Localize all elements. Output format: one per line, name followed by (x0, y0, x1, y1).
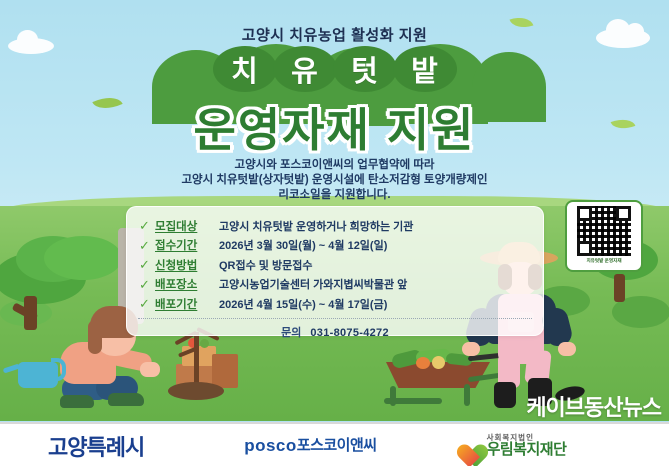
info-row-value: 2026년 3월 30일(월) ~ 4월 12일(일) (219, 237, 387, 253)
logo-goyang-city: 고양특례시 (48, 430, 144, 462)
info-row: ✓ 배포기간 2026년 4월 15일(수) ~ 4월 17일(금) (139, 294, 531, 314)
info-row-label: 배포기간 (155, 296, 219, 312)
info-row-value: 2026년 4월 15일(수) ~ 4월 17일(금) (219, 296, 387, 312)
info-row-label: 신청방법 (155, 257, 219, 273)
info-row-value: 고양시 치유텃밭 운영하거나 희망하는 기관 (219, 218, 413, 234)
logo-woorim-foundation: 사회복지법인 우림복지재단 (451, 433, 567, 459)
info-row-label: 배포장소 (155, 276, 219, 292)
poster-kicker: 고양시 치유농업 활성화 지원 (0, 24, 669, 45)
contact-label: 문의 (281, 327, 301, 339)
info-row-label: 모집대상 (155, 218, 219, 234)
title-pill-char: 텃 (333, 46, 397, 92)
description-line: 고양시 치유텃밭(상자텃밭) 운영시설에 탄소저감형 토양개량제인 (0, 173, 669, 188)
title-line2-right: 지원 (387, 104, 476, 156)
title-pill-char: 유 (273, 46, 337, 92)
check-icon: ✓ (139, 258, 155, 271)
info-card: ✓ 모집대상 고양시 치유텃밭 운영하거나 희망하는 기관 ✓ 접수기간 202… (126, 206, 544, 336)
qr-code-icon[interactable] (577, 206, 631, 256)
heart-icon (451, 433, 481, 459)
logo-posco-kr: 포스코이앤씨 (297, 438, 377, 454)
title-pill-char: 밭 (393, 46, 457, 92)
info-row-value: 고양시농업기술센터 가와지볍씨박물관 앞 (219, 276, 407, 292)
logo-posco: posco 포스코이앤씨 (244, 437, 376, 455)
check-icon: ✓ (139, 219, 155, 232)
qr-code-box[interactable]: 치유텃밭 운영자재 (565, 200, 643, 272)
qr-code-caption: 치유텃밭 운영자재 (586, 258, 621, 264)
info-row: ✓ 신청방법 QR접수 및 방문접수 (139, 255, 531, 275)
check-icon: ✓ (139, 239, 155, 252)
title-pill-char: 치 (213, 46, 277, 92)
watermark-text: 케이브동산뉴스 (526, 390, 661, 422)
foundation-name-label: 우림복지재단 (487, 442, 567, 458)
check-icon: ✓ (139, 278, 155, 291)
description-line: 고양시와 포스코이앤씨의 업무협약에 따라 (0, 158, 669, 173)
info-row: ✓ 모집대상 고양시 치유텃밭 운영하거나 희망하는 기관 (139, 216, 531, 236)
info-row: ✓ 배포장소 고양시농업기술센터 가와지볍씨박물관 앞 (139, 275, 531, 295)
check-icon: ✓ (139, 297, 155, 310)
poster-root: 고양시 치유농업 활성화 지원 치 유 텃 밭 운영자재지원 고양시와 포스코이… (0, 0, 669, 466)
watering-can-illustration (18, 362, 58, 388)
contact-number: 031-8075-4272 (310, 327, 389, 339)
poster-title-line1: 치 유 텃 밭 (0, 46, 669, 92)
info-row: ✓ 접수기간 2026년 3월 30일(월) ~ 4월 12일(일) (139, 236, 531, 256)
poster-title-line2: 운영자재지원 (0, 94, 669, 160)
info-row-label: 접수기간 (155, 237, 219, 253)
info-row-list: ✓ 모집대상 고양시 치유텃밭 운영하거나 희망하는 기관 ✓ 접수기간 202… (127, 207, 543, 314)
info-row-value: QR접수 및 방문접수 (219, 257, 312, 273)
poster-description: 고양시와 포스코이앤씨의 업무협약에 따라 고양시 치유텃밭(상자텃밭) 운영시… (0, 158, 669, 203)
footer-logo-bar: 고양특례시 posco 포스코이앤씨 사회복지법인 우림복지재단 (0, 422, 669, 466)
logo-posco-en: posco (244, 437, 297, 455)
card-divider (138, 318, 532, 319)
contact-line: 문의031-8075-4272 (127, 324, 543, 340)
title-line2-left: 운영자재 (194, 104, 371, 156)
